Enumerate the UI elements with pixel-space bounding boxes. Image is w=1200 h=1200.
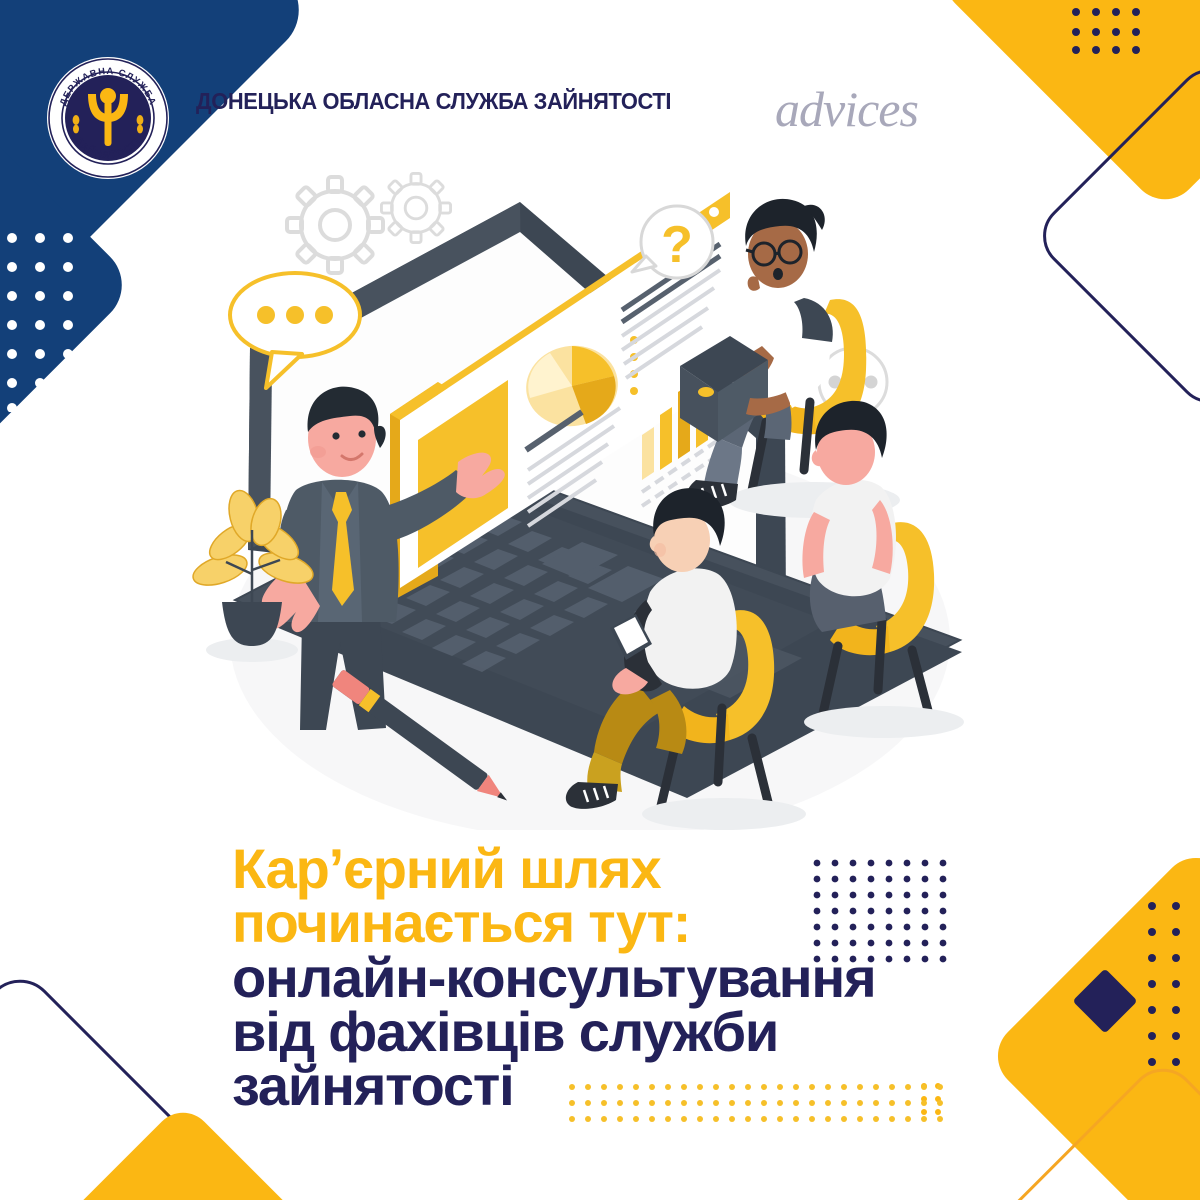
headline-line-4: від фахівців служби bbox=[232, 1005, 972, 1059]
partner-logo-advices: advices bbox=[775, 80, 918, 138]
headline-line-1: Кар’єрний шлях bbox=[232, 842, 972, 896]
question-mark-glyph: ? bbox=[661, 216, 693, 274]
headline-line-2: починається тут: bbox=[232, 896, 972, 950]
logo-emblem-icon: ДЕРЖАВНА СЛУЖБА ЗАЙНЯТОСТІ bbox=[46, 56, 170, 180]
organization-title: ДОНЕЦЬКА ОБЛАСНА СЛУЖБА ЗАЙНЯТОСТІ bbox=[196, 88, 671, 115]
headline-line-5: зайнятості bbox=[232, 1059, 972, 1113]
poster-header: ДЕРЖАВНА СЛУЖБА ЗАЙНЯТОСТІ ДОНЕЦЬКА ОБЛА… bbox=[0, 0, 1200, 200]
top-left-white-dot-grid bbox=[6, 232, 80, 412]
headline-block: Кар’єрний шлях починається тут: онлайн-к… bbox=[232, 842, 972, 1114]
headline-line-3: онлайн-консультування bbox=[232, 951, 972, 1005]
employment-service-logo: ДЕРЖАВНА СЛУЖБА ЗАЙНЯТОСТІ bbox=[46, 56, 170, 180]
question-mark-bubble: ? bbox=[632, 206, 713, 278]
poster-canvas: ДЕРЖАВНА СЛУЖБА ЗАЙНЯТОСТІ ДОНЕЦЬКА ОБЛА… bbox=[0, 0, 1200, 1200]
online-consultation-illustration: ? bbox=[190, 170, 980, 830]
